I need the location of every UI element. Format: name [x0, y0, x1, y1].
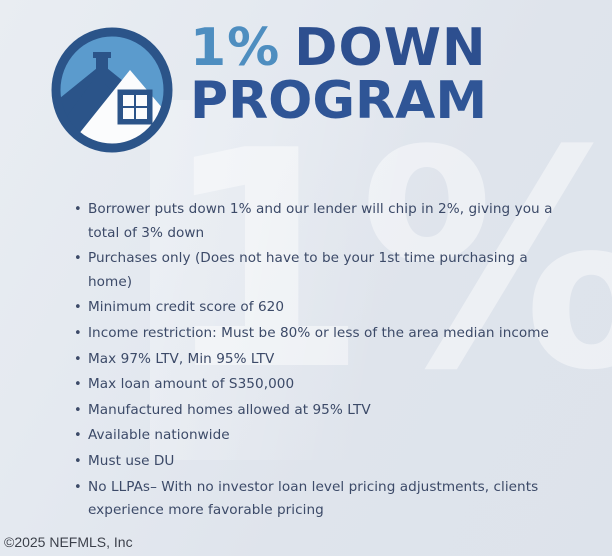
title-down: DOWN	[294, 18, 486, 78]
list-item: Income restriction: Must be 80% or less …	[72, 322, 570, 346]
list-item: Must use DU	[72, 450, 570, 474]
list-item: No LLPAs– With no investor loan level pr…	[72, 476, 570, 523]
list-item: Max loan amount of S350,000	[72, 373, 570, 397]
title-line-one: 1%DOWN	[190, 22, 590, 74]
list-item: Purchases only (Does not have to be your…	[72, 247, 570, 294]
flyer-canvas: 1%	[0, 0, 612, 556]
list-item: Minimum credit score of 620	[72, 296, 570, 320]
title-block: 1%DOWN PROGRAM	[190, 22, 590, 128]
list-item: Manufactured homes allowed at 95% LTV	[72, 399, 570, 423]
list-item: Max 97% LTV, Min 95% LTV	[72, 348, 570, 372]
house-in-circle-logo	[44, 24, 180, 156]
list-item: Available nationwide	[72, 424, 570, 448]
program-details-list: Borrower puts down 1% and our lender wil…	[72, 198, 570, 525]
copyright-watermark: ©2025 NEFMLS, Inc	[4, 534, 133, 550]
list-item: Borrower puts down 1% and our lender wil…	[72, 198, 570, 245]
title-program: PROGRAM	[190, 74, 590, 128]
header: 1%DOWN PROGRAM	[0, 0, 612, 160]
title-percent: 1%	[190, 18, 280, 78]
